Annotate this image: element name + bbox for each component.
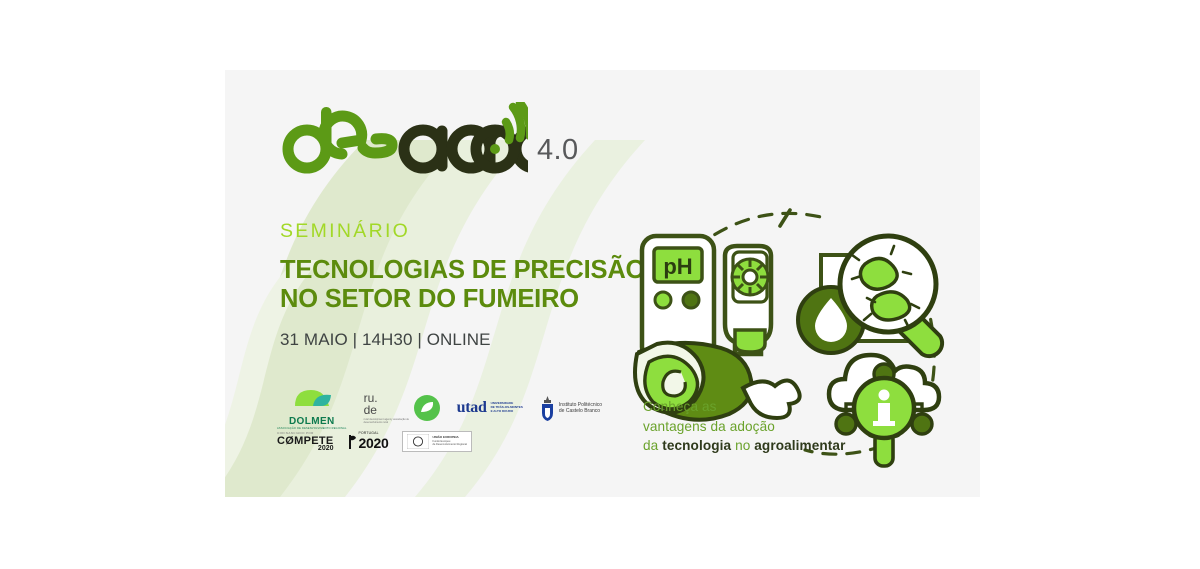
partner-logo-dolmen: DOLMEN ASSOCIAÇÃO DE DESENVOLVIMENTO REG… <box>277 386 347 430</box>
ipcb-label-2: de Castelo Branco <box>559 408 602 415</box>
desagro-wordmark-icon <box>280 102 528 174</box>
brand-logo: 4.0 <box>280 102 579 174</box>
page-title: TECNOLOGIAS DE PRECISÃO NO SETOR DO FUME… <box>280 256 645 315</box>
headline-line-2: NO SETOR DO FUMEIRO <box>280 285 579 313</box>
utad-sub-3: E ALTO DOURO <box>491 410 523 414</box>
partner-logo-rude: ru. de rural development agency associaç… <box>364 392 440 424</box>
dolmen-sub: ASSOCIAÇÃO DE DESENVOLVIMENTO REGIONAL <box>277 427 347 430</box>
funder-logo-portugal2020: PORTUGAL 2020 <box>348 432 389 451</box>
event-dateline: 31 MAIO | 14H30 | ONLINE <box>280 330 645 350</box>
headline-line-1: TECNOLOGIAS DE PRECISÃO <box>280 256 645 284</box>
funder-logo-compete: COFINANCIADO POR CØMPETE 2020 <box>277 431 334 452</box>
sensor-probe-icon <box>725 210 790 354</box>
caption-line-3-b: tecnologia <box>662 438 731 453</box>
partner-logos: DOLMEN ASSOCIAÇÃO DE DESENVOLVIMENTO REG… <box>277 386 602 430</box>
eu-flag-icon <box>407 434 429 449</box>
partner-logo-ipcb: Instituto Politécnico de Castelo Branco <box>540 395 602 422</box>
brand-version: 4.0 <box>537 134 579 167</box>
rude-label-2: de <box>364 404 410 417</box>
caption-line-3-c: no <box>731 438 754 453</box>
eu-label-3: de Desenvolvimento Regional <box>432 443 466 446</box>
caption-line-1: Conheça as <box>643 397 845 417</box>
funder-logo-eu: UNIÃO EUROPEIA Fundo Europeu de Desenvol… <box>402 431 471 452</box>
text-block: SEMINÁRIO TECNOLOGIAS DE PRECISÃO NO SET… <box>280 222 645 350</box>
rude-sub: rural development agency associação de d… <box>364 419 410 424</box>
portugal-label: 2020 <box>359 435 389 451</box>
rude-leaf-circle-icon <box>414 395 440 421</box>
caption-line-3-a: da <box>643 438 662 453</box>
partner-logo-utad: utad UNIVERSIDADE DE TRÁS-OS-MONTES E AL… <box>457 399 523 417</box>
portugal-shield-icon <box>348 434 357 450</box>
illustration-caption: Conheça as vantagens da adoção da tecnol… <box>643 397 845 456</box>
ipcb-crest-icon <box>540 395 555 422</box>
caption-line-3: da tecnologia no agroalimentar <box>643 436 845 456</box>
screenshot-root: 4.0 SEMINÁRIO TECNOLOGIAS DE PRECISÃO NO… <box>0 0 1200 569</box>
kicker-label: SEMINÁRIO <box>280 222 645 242</box>
funder-logos: COFINANCIADO POR CØMPETE 2020 PORTUGAL 2… <box>277 431 472 452</box>
cloud-info-network-icon <box>829 355 939 466</box>
caption-line-2: vantagens da adoção <box>643 417 845 437</box>
dolmen-label: DOLMEN <box>277 416 347 427</box>
svg-text:pH: pH <box>663 254 692 279</box>
caption-line-3-d: agroalimentar <box>754 438 845 453</box>
utad-label: utad <box>457 399 487 417</box>
poster-canvas: 4.0 SEMINÁRIO TECNOLOGIAS DE PRECISÃO NO… <box>225 70 980 497</box>
dolmen-leaf-icon <box>291 386 333 410</box>
